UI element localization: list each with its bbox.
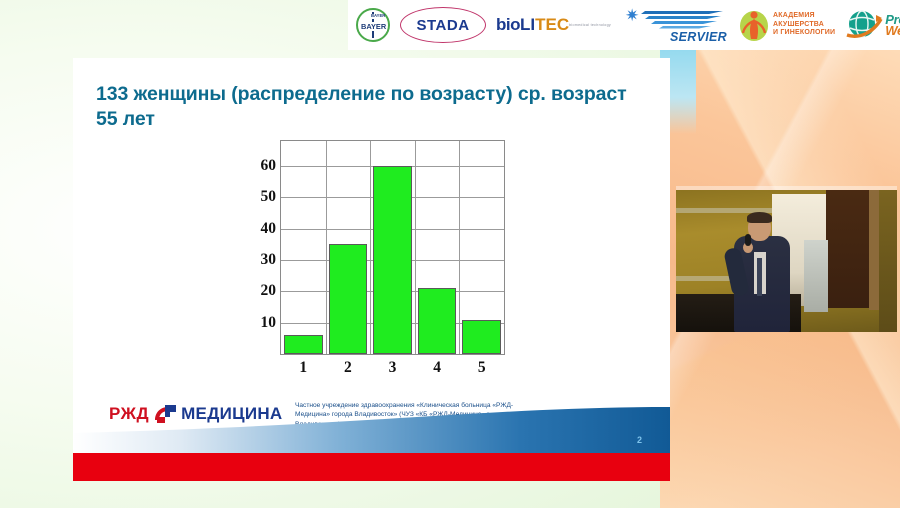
speaker-video[interactable] (676, 190, 897, 332)
stada-wordmark: STADA (400, 7, 486, 43)
chart-bar (329, 244, 368, 354)
academy-logo[interactable]: АКАДЕМИЯ АКУШЕРСТВА И ГИНЕКОЛОГИИ (739, 8, 835, 42)
biolitec-logo[interactable]: bio LITEC biomedical technology (496, 16, 611, 34)
slide-page-number: 2 (637, 435, 642, 445)
academy-line-3: И ГИНЕКОЛОГИИ (773, 29, 835, 38)
speaker-hair (747, 212, 772, 223)
slide-title: 133 женщины (распределение по возрасту) … (96, 82, 641, 132)
chart-bar (373, 166, 412, 354)
bayer-horizontal-text: BAYER (360, 22, 387, 31)
chart-gridline-v (415, 141, 416, 354)
chart-y-tick-30: 30 (261, 251, 277, 269)
microphone-icon (745, 234, 751, 246)
blue-swoosh-decoration (73, 407, 670, 453)
academy-line-2: АКУШЕРСТВА (773, 21, 835, 30)
academy-text-block: АКАДЕМИЯ АКУШЕРСТВА И ГИНЕКОЛОГИИ (773, 12, 835, 38)
chart-gridline-v (459, 141, 460, 354)
chart-y-tick-40: 40 (261, 220, 277, 238)
chart-gridline-v (326, 141, 327, 354)
biolitec-bio-text: bio (496, 15, 520, 34)
chart-x-tick-1: 1 (299, 359, 307, 377)
servier-star-icon: ✷ (625, 7, 639, 24)
biolitec-li-text: LI (520, 15, 535, 34)
stada-logo[interactable]: STADA (400, 7, 486, 43)
chart-bar (284, 335, 323, 354)
proctoweb-text-web: Web (885, 25, 900, 36)
screen-root: BAYER BAYER STADA bio LITEC biomedical t… (0, 0, 900, 508)
servier-wing-icon (639, 9, 725, 29)
sponsor-logo-bar: BAYER BAYER STADA bio LITEC biomedical t… (348, 0, 900, 50)
chart-y-tick-10: 10 (261, 314, 277, 332)
age-distribution-chart: 10203040506012345 (238, 140, 503, 390)
chart-plot-area: 10203040506012345 (280, 140, 505, 355)
bayer-vertical-text: BAYER (371, 14, 379, 19)
video-flipchart (804, 240, 828, 312)
chart-x-tick-2: 2 (344, 359, 352, 377)
chart-y-tick-50: 50 (261, 188, 277, 206)
biolitec-tagline: biomedical technology (569, 24, 611, 28)
video-door-frame (869, 190, 879, 310)
video-right-wall (879, 190, 897, 332)
chart-bar (462, 320, 501, 354)
globe-icon (845, 9, 883, 41)
bayer-cross-icon: BAYER BAYER (356, 8, 390, 42)
chart-bar (418, 288, 457, 354)
swoosh-shape (73, 407, 670, 453)
chart-y-tick-60: 60 (261, 157, 277, 175)
biolitec-tec-text: TEC (535, 15, 569, 34)
speaker-tie (757, 258, 762, 296)
servier-logo[interactable]: ✷ SERVIER (621, 5, 729, 45)
chart-x-tick-3: 3 (389, 359, 397, 377)
video-door (826, 190, 870, 308)
academy-line-1: АКАДЕМИЯ (773, 12, 835, 21)
proctoweb-text-block: Procto Web (885, 14, 900, 36)
chart-x-tick-5: 5 (478, 359, 486, 377)
chart-gridline-v (370, 141, 371, 354)
presentation-slide[interactable]: 133 женщины (распределение по возрасту) … (73, 58, 670, 481)
bayer-logo[interactable]: BAYER BAYER (356, 8, 390, 42)
servier-wordmark: SERVIER (670, 30, 727, 44)
academy-figure-icon (739, 8, 769, 42)
chart-y-tick-20: 20 (261, 282, 277, 300)
red-accent-bar (73, 453, 670, 481)
chart-x-tick-4: 4 (433, 359, 441, 377)
proctoweb-logo[interactable]: Procto Web (845, 9, 900, 41)
